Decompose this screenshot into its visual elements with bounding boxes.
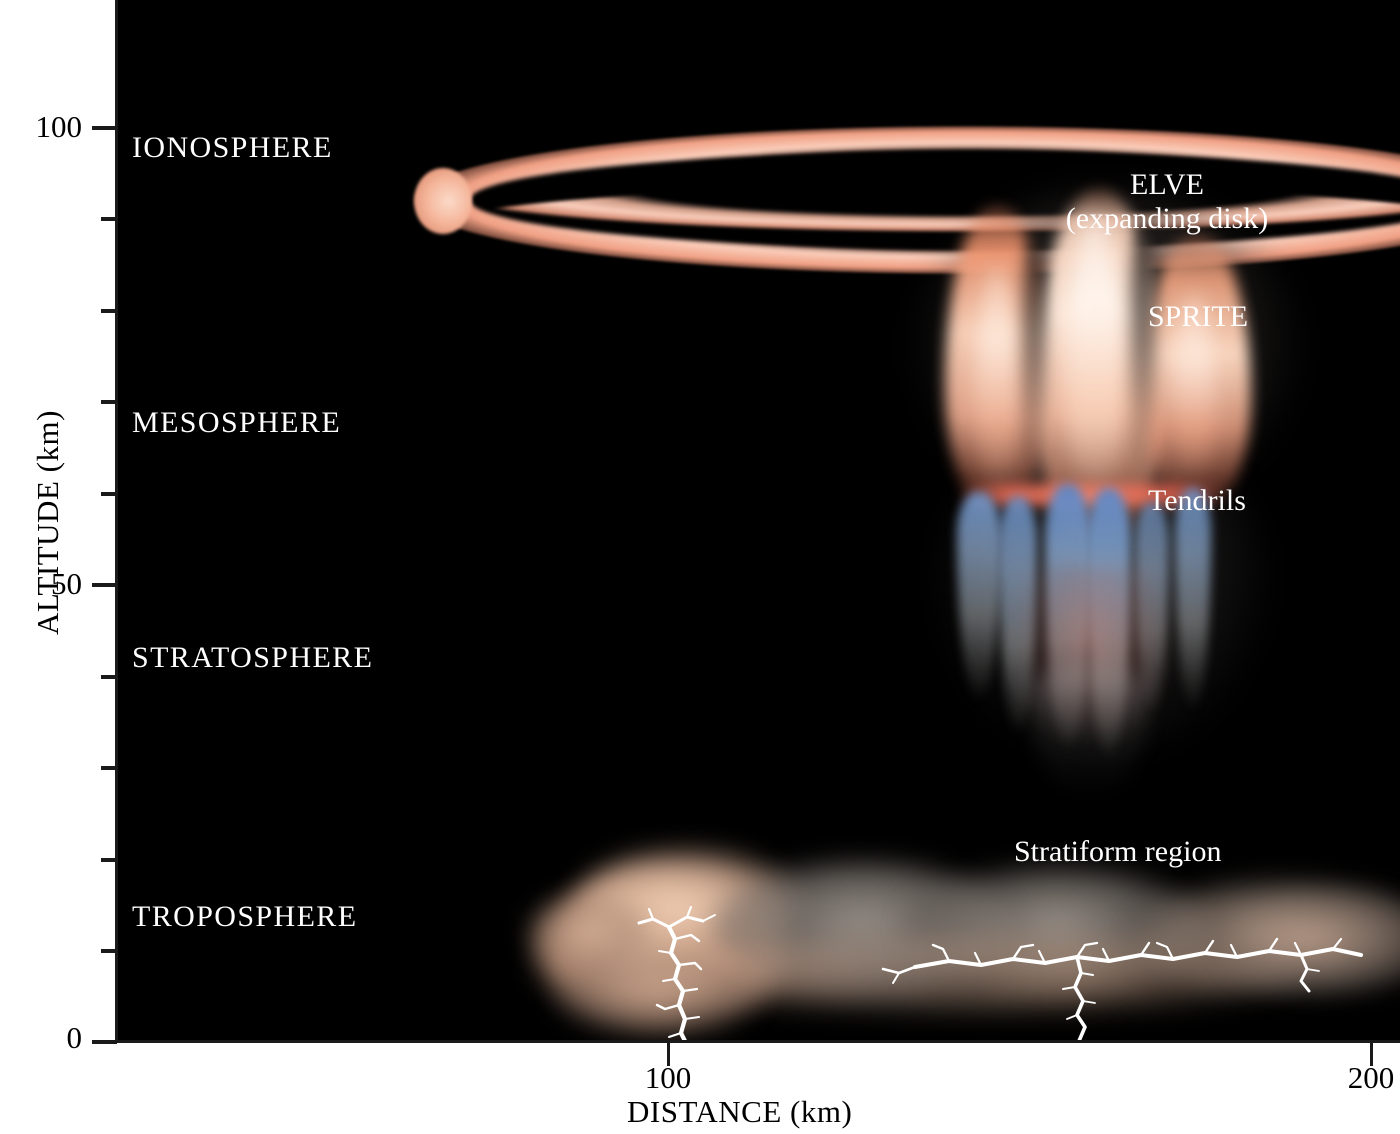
elve-label-line2: (expanding disk) xyxy=(1017,202,1317,236)
feature-label-stratiform: Stratiform region xyxy=(1014,835,1221,869)
y-tick-90 xyxy=(101,217,117,221)
sprite-altitude-diagram: IONOSPHERE MESOSPHERE STRATOSPHERE TROPO… xyxy=(0,0,1400,1134)
sprite-striation-2 xyxy=(1131,222,1155,482)
y-axis-line xyxy=(115,0,118,1042)
x-axis-title: DISTANCE (km) xyxy=(627,1094,852,1130)
y-tick-20 xyxy=(101,858,117,862)
x-tick-label-200: 200 xyxy=(1311,1062,1400,1093)
y-tick-100 xyxy=(92,126,117,130)
x-axis-line xyxy=(115,1040,1400,1043)
lightning-spider-stratiform xyxy=(909,931,1400,1042)
lightning-cloud-to-ground xyxy=(629,905,819,1042)
layer-label-troposphere: TROPOSPHERE xyxy=(132,901,357,933)
y-tick-50 xyxy=(92,583,117,587)
y-tick-30 xyxy=(101,766,117,770)
sprite-striation-1 xyxy=(1023,236,1045,486)
y-tick-label-0: 0 xyxy=(0,1022,82,1053)
layer-label-stratosphere: STRATOSPHERE xyxy=(132,642,373,674)
x-tick-label-100: 100 xyxy=(608,1062,728,1093)
sprite-tendril-fade xyxy=(1029,666,1149,796)
y-tick-70 xyxy=(101,400,117,404)
elve-label-line1: ELVE xyxy=(1017,168,1317,202)
y-axis-title: ALTITUDE (km) xyxy=(30,410,66,635)
elve-disk-left-cap xyxy=(414,168,472,234)
y-tick-label-100: 100 xyxy=(0,111,82,142)
feature-label-sprite: SPRITE xyxy=(1148,300,1248,334)
y-tick-40 xyxy=(101,675,117,679)
feature-label-elve: ELVE (expanding disk) xyxy=(1017,168,1317,235)
layer-label-ionosphere: IONOSPHERE xyxy=(132,132,333,164)
y-tick-60 xyxy=(101,492,117,496)
layer-label-mesosphere: MESOSPHERE xyxy=(132,407,341,439)
y-tick-10 xyxy=(101,949,117,953)
y-tick-80 xyxy=(101,309,117,313)
plot-area: IONOSPHERE MESOSPHERE STRATOSPHERE TROPO… xyxy=(117,0,1400,1042)
feature-label-tendrils: Tendrils xyxy=(1148,484,1246,518)
y-tick-0 xyxy=(92,1040,117,1044)
thunderstorm-cloud xyxy=(537,845,1400,1040)
